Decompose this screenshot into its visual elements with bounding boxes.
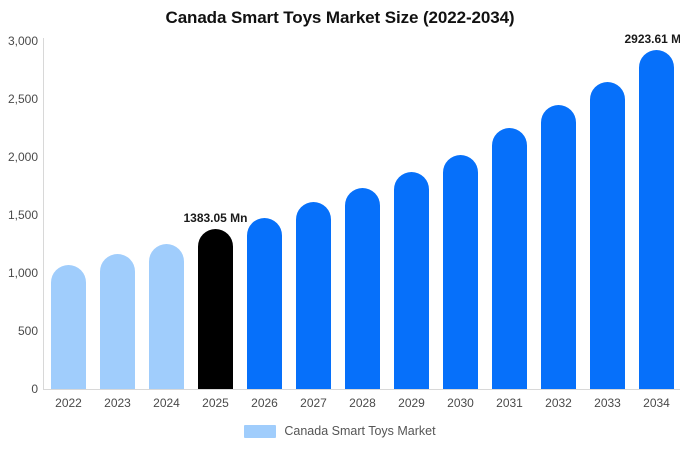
bars-layer xyxy=(43,41,680,389)
plot-area xyxy=(43,41,680,389)
bar-2026[interactable] xyxy=(247,218,282,389)
x-axis-tick-labels: 2022202320242025202620272028202920302031… xyxy=(43,396,680,416)
bar-2032[interactable] xyxy=(541,105,576,389)
x-axis-tick-label-2028: 2028 xyxy=(338,396,388,410)
y-axis-tick-label: 2,500 xyxy=(0,92,38,106)
y-axis-tick-label: 1,000 xyxy=(0,266,38,280)
x-axis-line xyxy=(43,389,680,390)
y-axis-tick-labels: 05001,0001,5002,0002,5003,000 xyxy=(0,0,38,450)
y-axis-tick-label: 3,000 xyxy=(0,34,38,48)
chart-title: Canada Smart Toys Market Size (2022-2034… xyxy=(0,8,680,28)
chart-legend: Canada Smart Toys Market xyxy=(0,424,680,438)
data-label-2034: 2923.61 Mn xyxy=(597,32,680,46)
x-axis-tick-label-2026: 2026 xyxy=(240,396,290,410)
y-axis-tick-label: 0 xyxy=(0,382,38,396)
legend-swatch-canada-smart-toys-market xyxy=(244,425,276,438)
bar-2029[interactable] xyxy=(394,172,429,389)
bar-chart: Canada Smart Toys Market Size (2022-2034… xyxy=(0,0,680,450)
x-axis-tick-label-2024: 2024 xyxy=(142,396,192,410)
bar-2028[interactable] xyxy=(345,188,380,389)
legend-label-canada-smart-toys-market: Canada Smart Toys Market xyxy=(284,424,435,438)
bar-2033[interactable] xyxy=(590,82,625,389)
x-axis-tick-label-2022: 2022 xyxy=(44,396,94,410)
y-axis-tick-label: 500 xyxy=(0,324,38,338)
bar-2031[interactable] xyxy=(492,128,527,389)
bar-2022[interactable] xyxy=(51,265,86,389)
x-axis-tick-label-2034: 2034 xyxy=(632,396,680,410)
bar-2025[interactable] xyxy=(198,229,233,389)
x-axis-tick-label-2030: 2030 xyxy=(436,396,486,410)
data-label-2025: 1383.05 Mn xyxy=(156,211,276,225)
x-axis-tick-label-2029: 2029 xyxy=(387,396,437,410)
x-axis-tick-label-2032: 2032 xyxy=(534,396,584,410)
y-axis-tick-label: 2,000 xyxy=(0,150,38,164)
x-axis-tick-label-2027: 2027 xyxy=(289,396,339,410)
bar-2027[interactable] xyxy=(296,202,331,389)
bar-2030[interactable] xyxy=(443,155,478,389)
x-axis-tick-label-2031: 2031 xyxy=(485,396,535,410)
bar-2034[interactable] xyxy=(639,50,674,389)
x-axis-tick-label-2025: 2025 xyxy=(191,396,241,410)
y-axis-tick-label: 1,500 xyxy=(0,208,38,222)
bar-2023[interactable] xyxy=(100,254,135,389)
x-axis-tick-label-2033: 2033 xyxy=(583,396,633,410)
bar-2024[interactable] xyxy=(149,244,184,389)
x-axis-tick-label-2023: 2023 xyxy=(93,396,143,410)
